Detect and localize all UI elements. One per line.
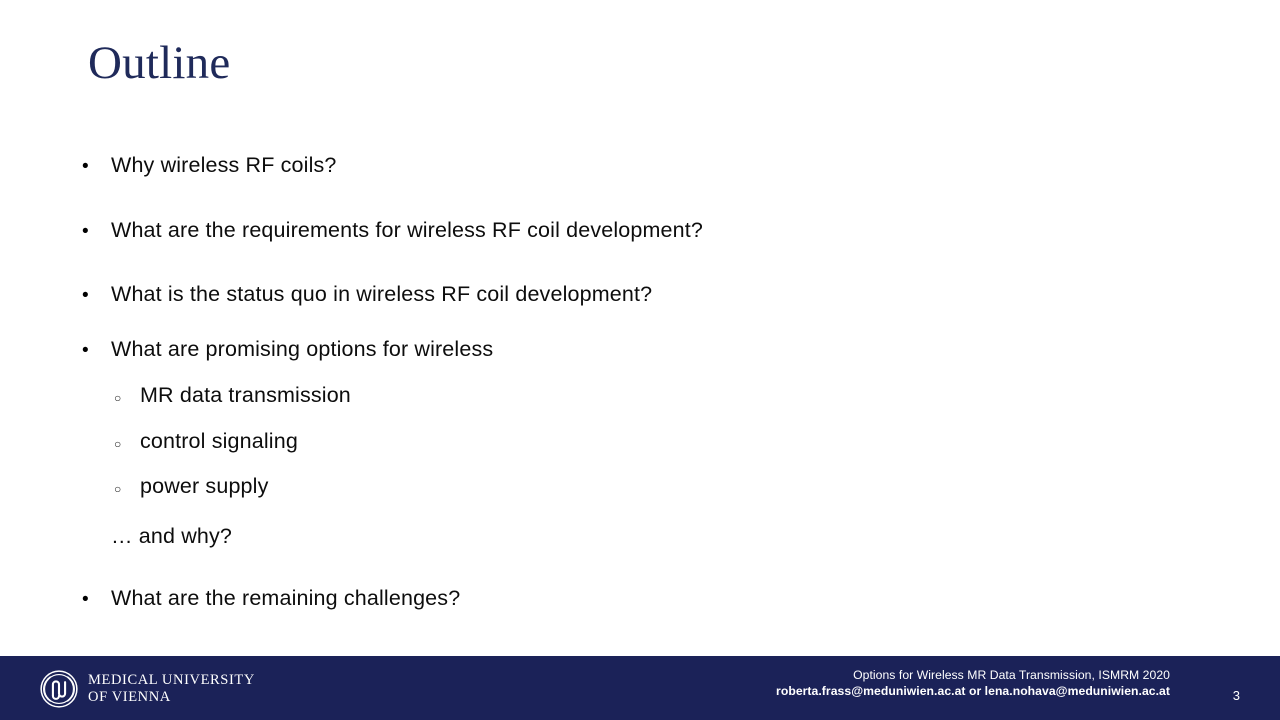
wordmark-line-1: MEDICAL UNIVERSITY — [88, 672, 255, 688]
bullet-dot-icon: • — [82, 341, 111, 360]
bullet-text: MR data transmission — [140, 384, 351, 408]
bullet-text: power supply — [140, 475, 268, 499]
bullet-text: What are promising options for wireless — [111, 338, 493, 362]
bullet-dot-icon: • — [82, 286, 111, 305]
brand-logo: MEDICAL UNIVERSITY OF VIENNA — [40, 670, 255, 708]
outline-plain-line: … and why? — [111, 525, 232, 549]
bullet-text: What is the status quo in wireless RF co… — [111, 283, 652, 307]
bullet-dot-icon: • — [82, 590, 111, 609]
footer-bar: MEDICAL UNIVERSITY OF VIENNA Options for… — [0, 656, 1280, 720]
footer-credits: Options for Wireless MR Data Transmissio… — [776, 667, 1170, 701]
bullet-circle-icon: ○ — [114, 438, 140, 450]
bullet-text: What are the remaining challenges? — [111, 587, 460, 611]
bullet-text: Why wireless RF coils? — [111, 154, 337, 178]
bullet-circle-icon: ○ — [114, 483, 140, 495]
outline-bullet-item: ○control signaling — [114, 430, 298, 454]
bullet-text: … and why? — [111, 525, 232, 549]
bullet-dot-icon: • — [82, 222, 111, 241]
footer-contact-line: roberta.frass@meduniwien.ac.at or lena.n… — [776, 683, 1170, 701]
outline-bullet-item: •What are promising options for wireless — [82, 338, 493, 362]
outline-bullet-item: •Why wireless RF coils? — [82, 154, 337, 178]
footer-conference-line: Options for Wireless MR Data Transmissio… — [776, 667, 1170, 683]
page-title: Outline — [88, 36, 230, 90]
bullet-text: What are the requirements for wireless R… — [111, 219, 703, 243]
slide-canvas: Outline •Why wireless RF coils?•What are… — [0, 0, 1280, 720]
outline-bullet-item: •What are the requirements for wireless … — [82, 219, 703, 243]
meduni-vienna-emblem-icon — [40, 670, 78, 708]
slide-page-number: 3 — [1233, 689, 1240, 702]
bullet-dot-icon: • — [82, 157, 111, 176]
wordmark-line-2: OF VIENNA — [88, 689, 255, 706]
bullet-text: control signaling — [140, 430, 298, 454]
outline-bullet-item: •What is the status quo in wireless RF c… — [82, 283, 652, 307]
bullet-circle-icon: ○ — [114, 392, 140, 404]
outline-bullet-item: ○MR data transmission — [114, 384, 351, 408]
outline-bullet-item: ○ power supply — [114, 475, 268, 499]
brand-wordmark: MEDICAL UNIVERSITY OF VIENNA — [88, 672, 255, 706]
outline-bullet-item: •What are the remaining challenges? — [82, 587, 460, 611]
